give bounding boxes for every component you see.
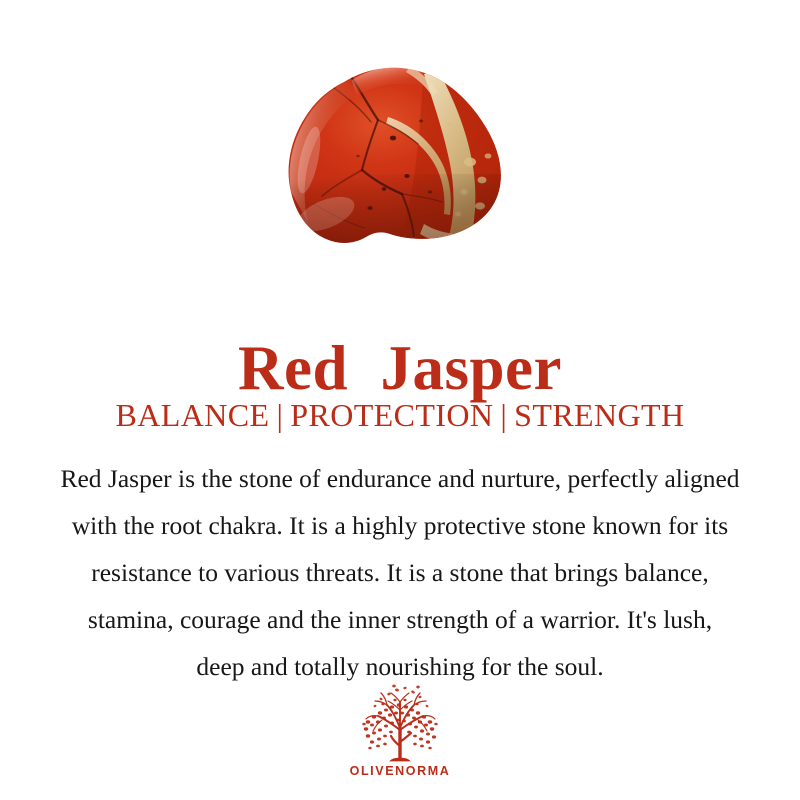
description-line: deep and totally nourishing for the soul… (0, 643, 800, 690)
keyword-separator-2: | (500, 396, 507, 434)
red-jasper-stone-icon (274, 64, 526, 250)
keyword-separator-1: | (276, 396, 283, 434)
description-line: Red Jasper is the stone of endurance and… (0, 455, 800, 502)
keyword-balance: BALANCE (116, 397, 270, 433)
page-title: Red Jasper (0, 333, 800, 403)
keyword-protection: PROTECTION (290, 397, 493, 433)
product-image-container (0, 62, 800, 252)
tree-of-life-icon (354, 684, 446, 762)
description-line: with the root chakra. It is a highly pro… (0, 502, 800, 549)
keyword-line: BALANCE|PROTECTION|STRENGTH (0, 396, 800, 434)
brand-logo: OLIVENORMA (0, 684, 800, 778)
brand-name: OLIVENORMA (350, 764, 451, 778)
red-jasper-info-card: Red Jasper BALANCE|PROTECTION|STRENGTH R… (0, 0, 800, 800)
description-line: stamina, courage and the inner strength … (0, 596, 800, 643)
description-line: resistance to various threats. It is a s… (0, 549, 800, 596)
description-text: Red Jasper is the stone of endurance and… (0, 455, 800, 690)
keyword-strength: STRENGTH (514, 397, 684, 433)
